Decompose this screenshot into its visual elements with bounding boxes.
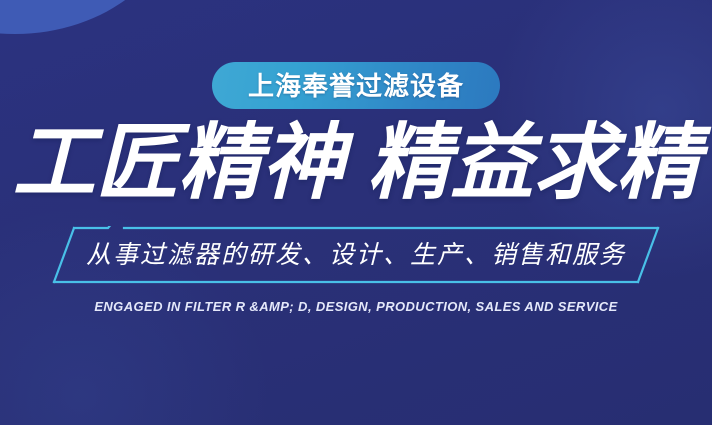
english-caption: ENGAGED IN FILTER R &AMP; D, DESIGN, PRO… bbox=[0, 298, 712, 316]
company-badge: 上海奉誉过滤设备 bbox=[212, 62, 500, 109]
promo-banner: 上海奉誉过滤设备 工匠精神 精益求精 从事过滤器的研发、设计、生产、销售和服务 … bbox=[0, 0, 712, 425]
decorative-circle bbox=[0, 0, 180, 34]
subtitle-text: 从事过滤器的研发、设计、生产、销售和服务 bbox=[46, 226, 666, 284]
headline: 工匠精神 精益求精 bbox=[0, 116, 712, 210]
company-badge-label: 上海奉誉过滤设备 bbox=[248, 73, 464, 99]
subtitle-frame: 从事过滤器的研发、设计、生产、销售和服务 bbox=[46, 226, 666, 284]
